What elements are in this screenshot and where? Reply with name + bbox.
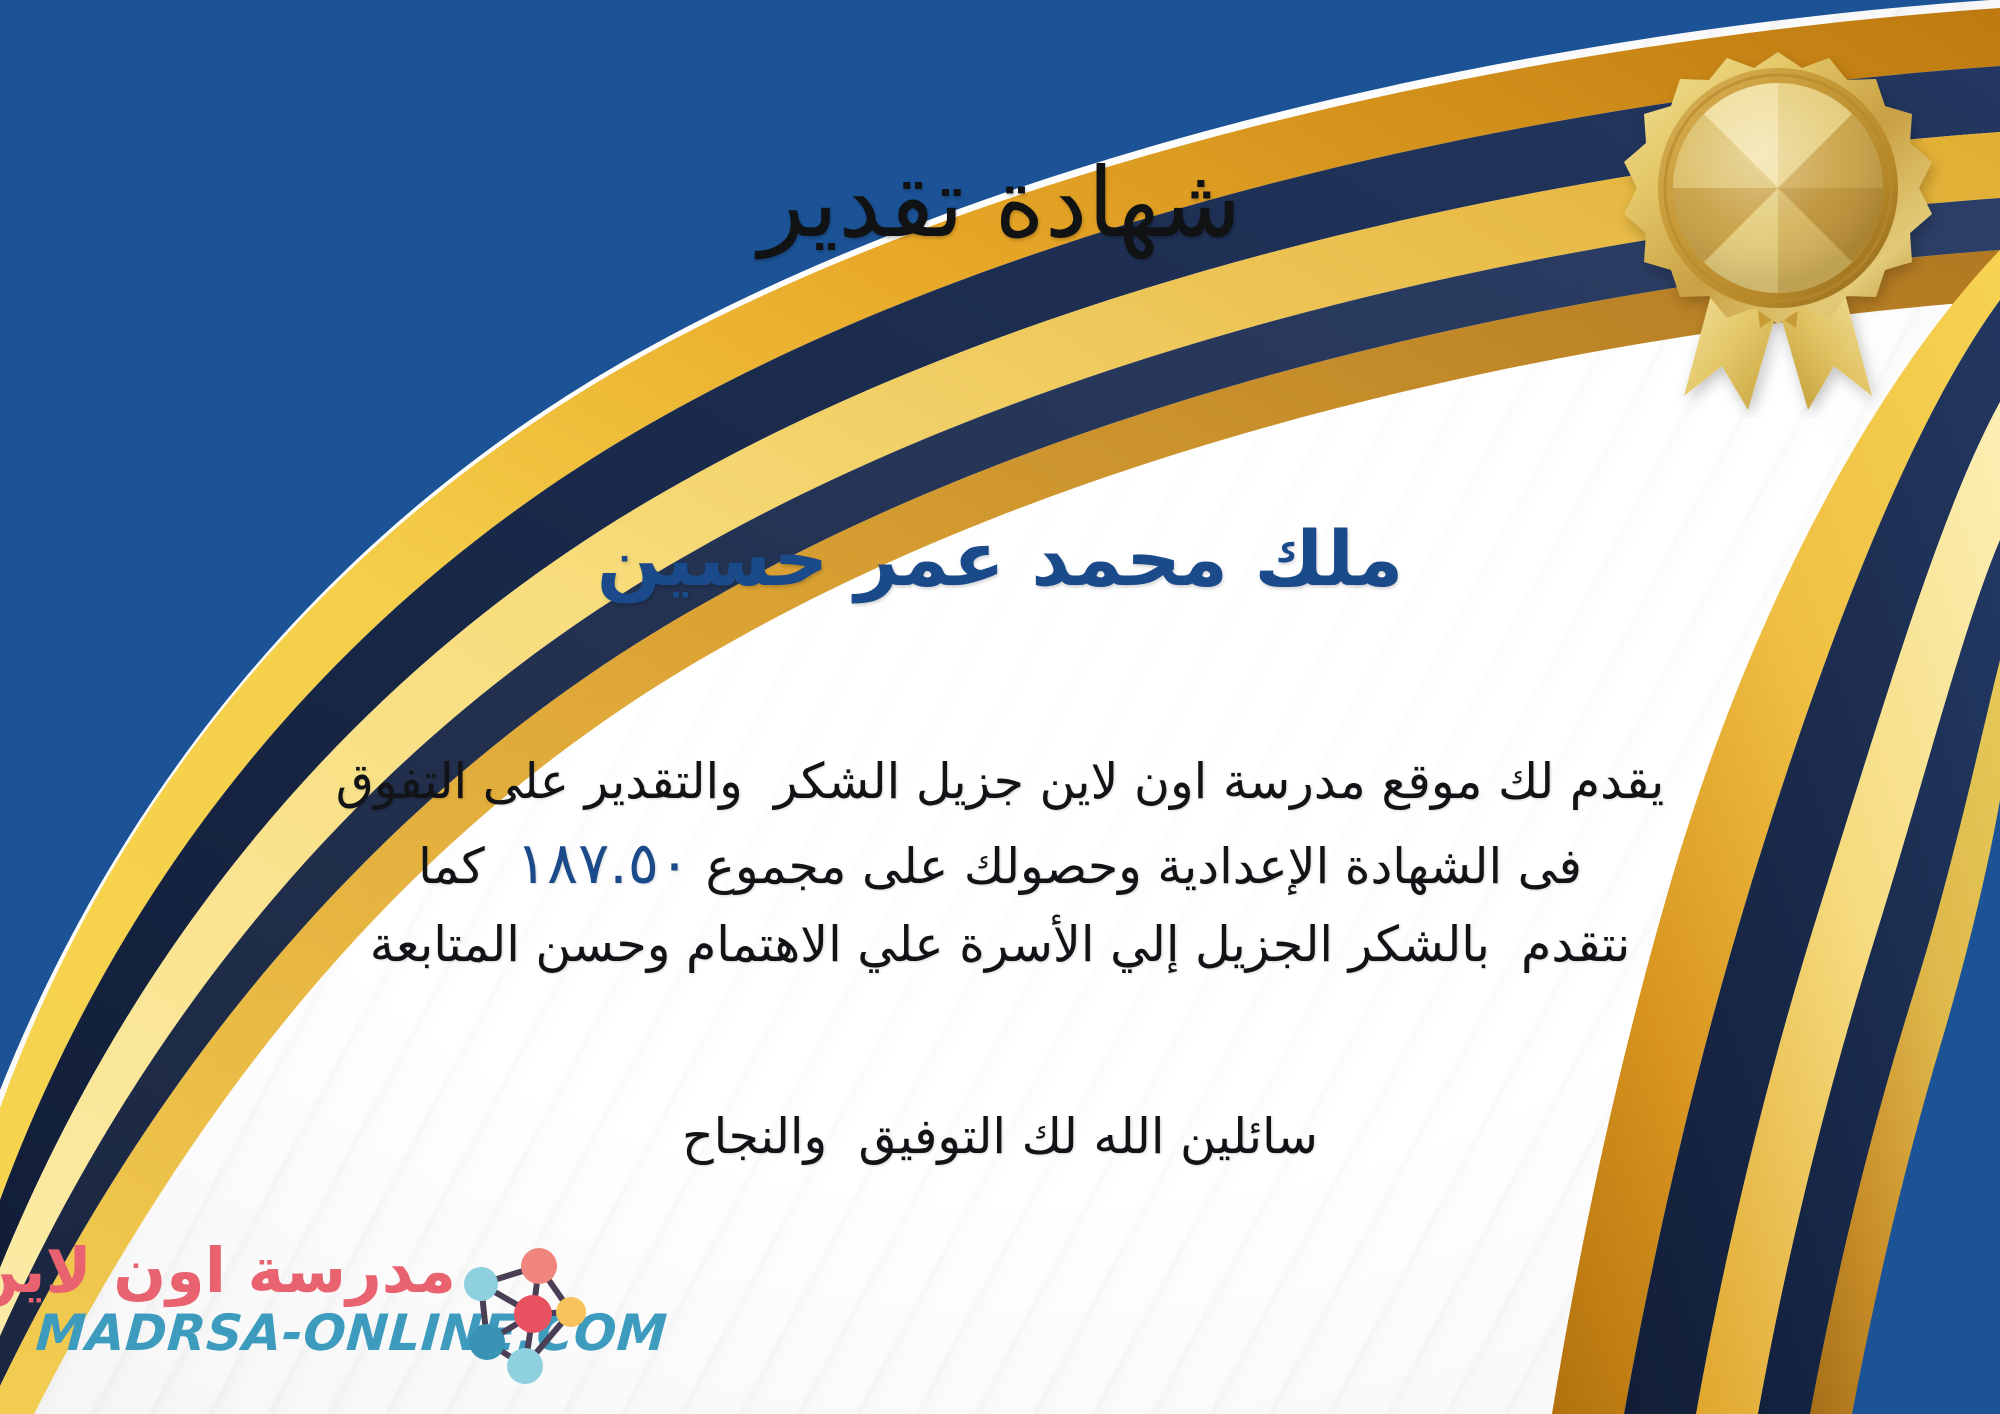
logo-arabic-wordmark: مدرسة اون لاين xyxy=(36,1238,456,1305)
body-line-3: نتقدم بالشكر الجزيل إلي الأسرة علي الاهت… xyxy=(60,908,1940,982)
node-yellow xyxy=(556,1297,586,1327)
site-logo[interactable]: مدرسة اون لاين MADRSA-ONLINE.COM xyxy=(28,1236,588,1396)
node-lightblue-bottom xyxy=(507,1348,543,1384)
certificate-page: شهادة تقدير ملك محمد عمر حسين يقدم لك مو… xyxy=(0,0,2000,1414)
body-line-2-prefix: فى الشهادة الإعدادية وحصولك على مجموع xyxy=(690,838,1582,895)
node-blue xyxy=(469,1324,505,1360)
network-nodes-icon xyxy=(453,1242,588,1390)
body-line-1: يقدم لك موقع مدرسة اون لاين جزيل الشكر و… xyxy=(60,745,1940,819)
closing-line: سائلين الله لك التوفيق والنجاح xyxy=(0,1108,2000,1165)
logo-text-column: مدرسة اون لاين MADRSA-ONLINE.COM xyxy=(36,1238,456,1359)
body-line-2-suffix: كما xyxy=(418,838,516,895)
node-coral xyxy=(521,1248,557,1284)
body-line-2: فى الشهادة الإعدادية وحصولك على مجموع ١٨… xyxy=(60,819,1940,907)
certificate-body: يقدم لك موقع مدرسة اون لاين جزيل الشكر و… xyxy=(60,745,1940,982)
node-lightblue-top xyxy=(464,1267,498,1301)
page-title: شهادة تقدير xyxy=(0,150,2000,258)
recipient-name: ملك محمد عمر حسين xyxy=(0,513,2000,604)
node-red xyxy=(514,1295,552,1333)
grade-value: ١٨٧.٥٠ xyxy=(516,829,690,897)
logo-url-wordmark: MADRSA-ONLINE.COM xyxy=(34,1307,458,1360)
